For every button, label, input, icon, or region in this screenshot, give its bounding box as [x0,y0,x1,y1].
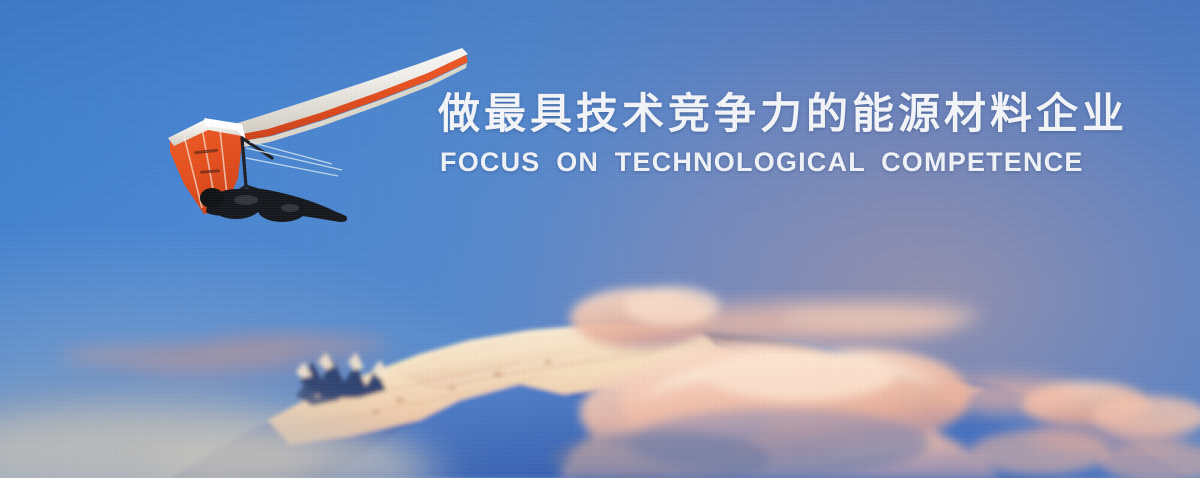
glider-pilot [200,188,347,222]
banner-copy: 做最具技术竞争力的能源材料企业 FOCUS ON TECHNOLOGICAL C… [438,88,1190,178]
glider-rigging [246,142,342,176]
headline-english: FOCUS ON TECHNOLOGICAL COMPETENCE [440,146,1190,178]
headline-chinese: 做最具技术竞争力的能源材料企业 [438,88,1190,140]
hero-banner: 做最具技术竞争力的能源材料企业 FOCUS ON TECHNOLOGICAL C… [0,0,1200,478]
glider-right-wing [228,48,468,148]
